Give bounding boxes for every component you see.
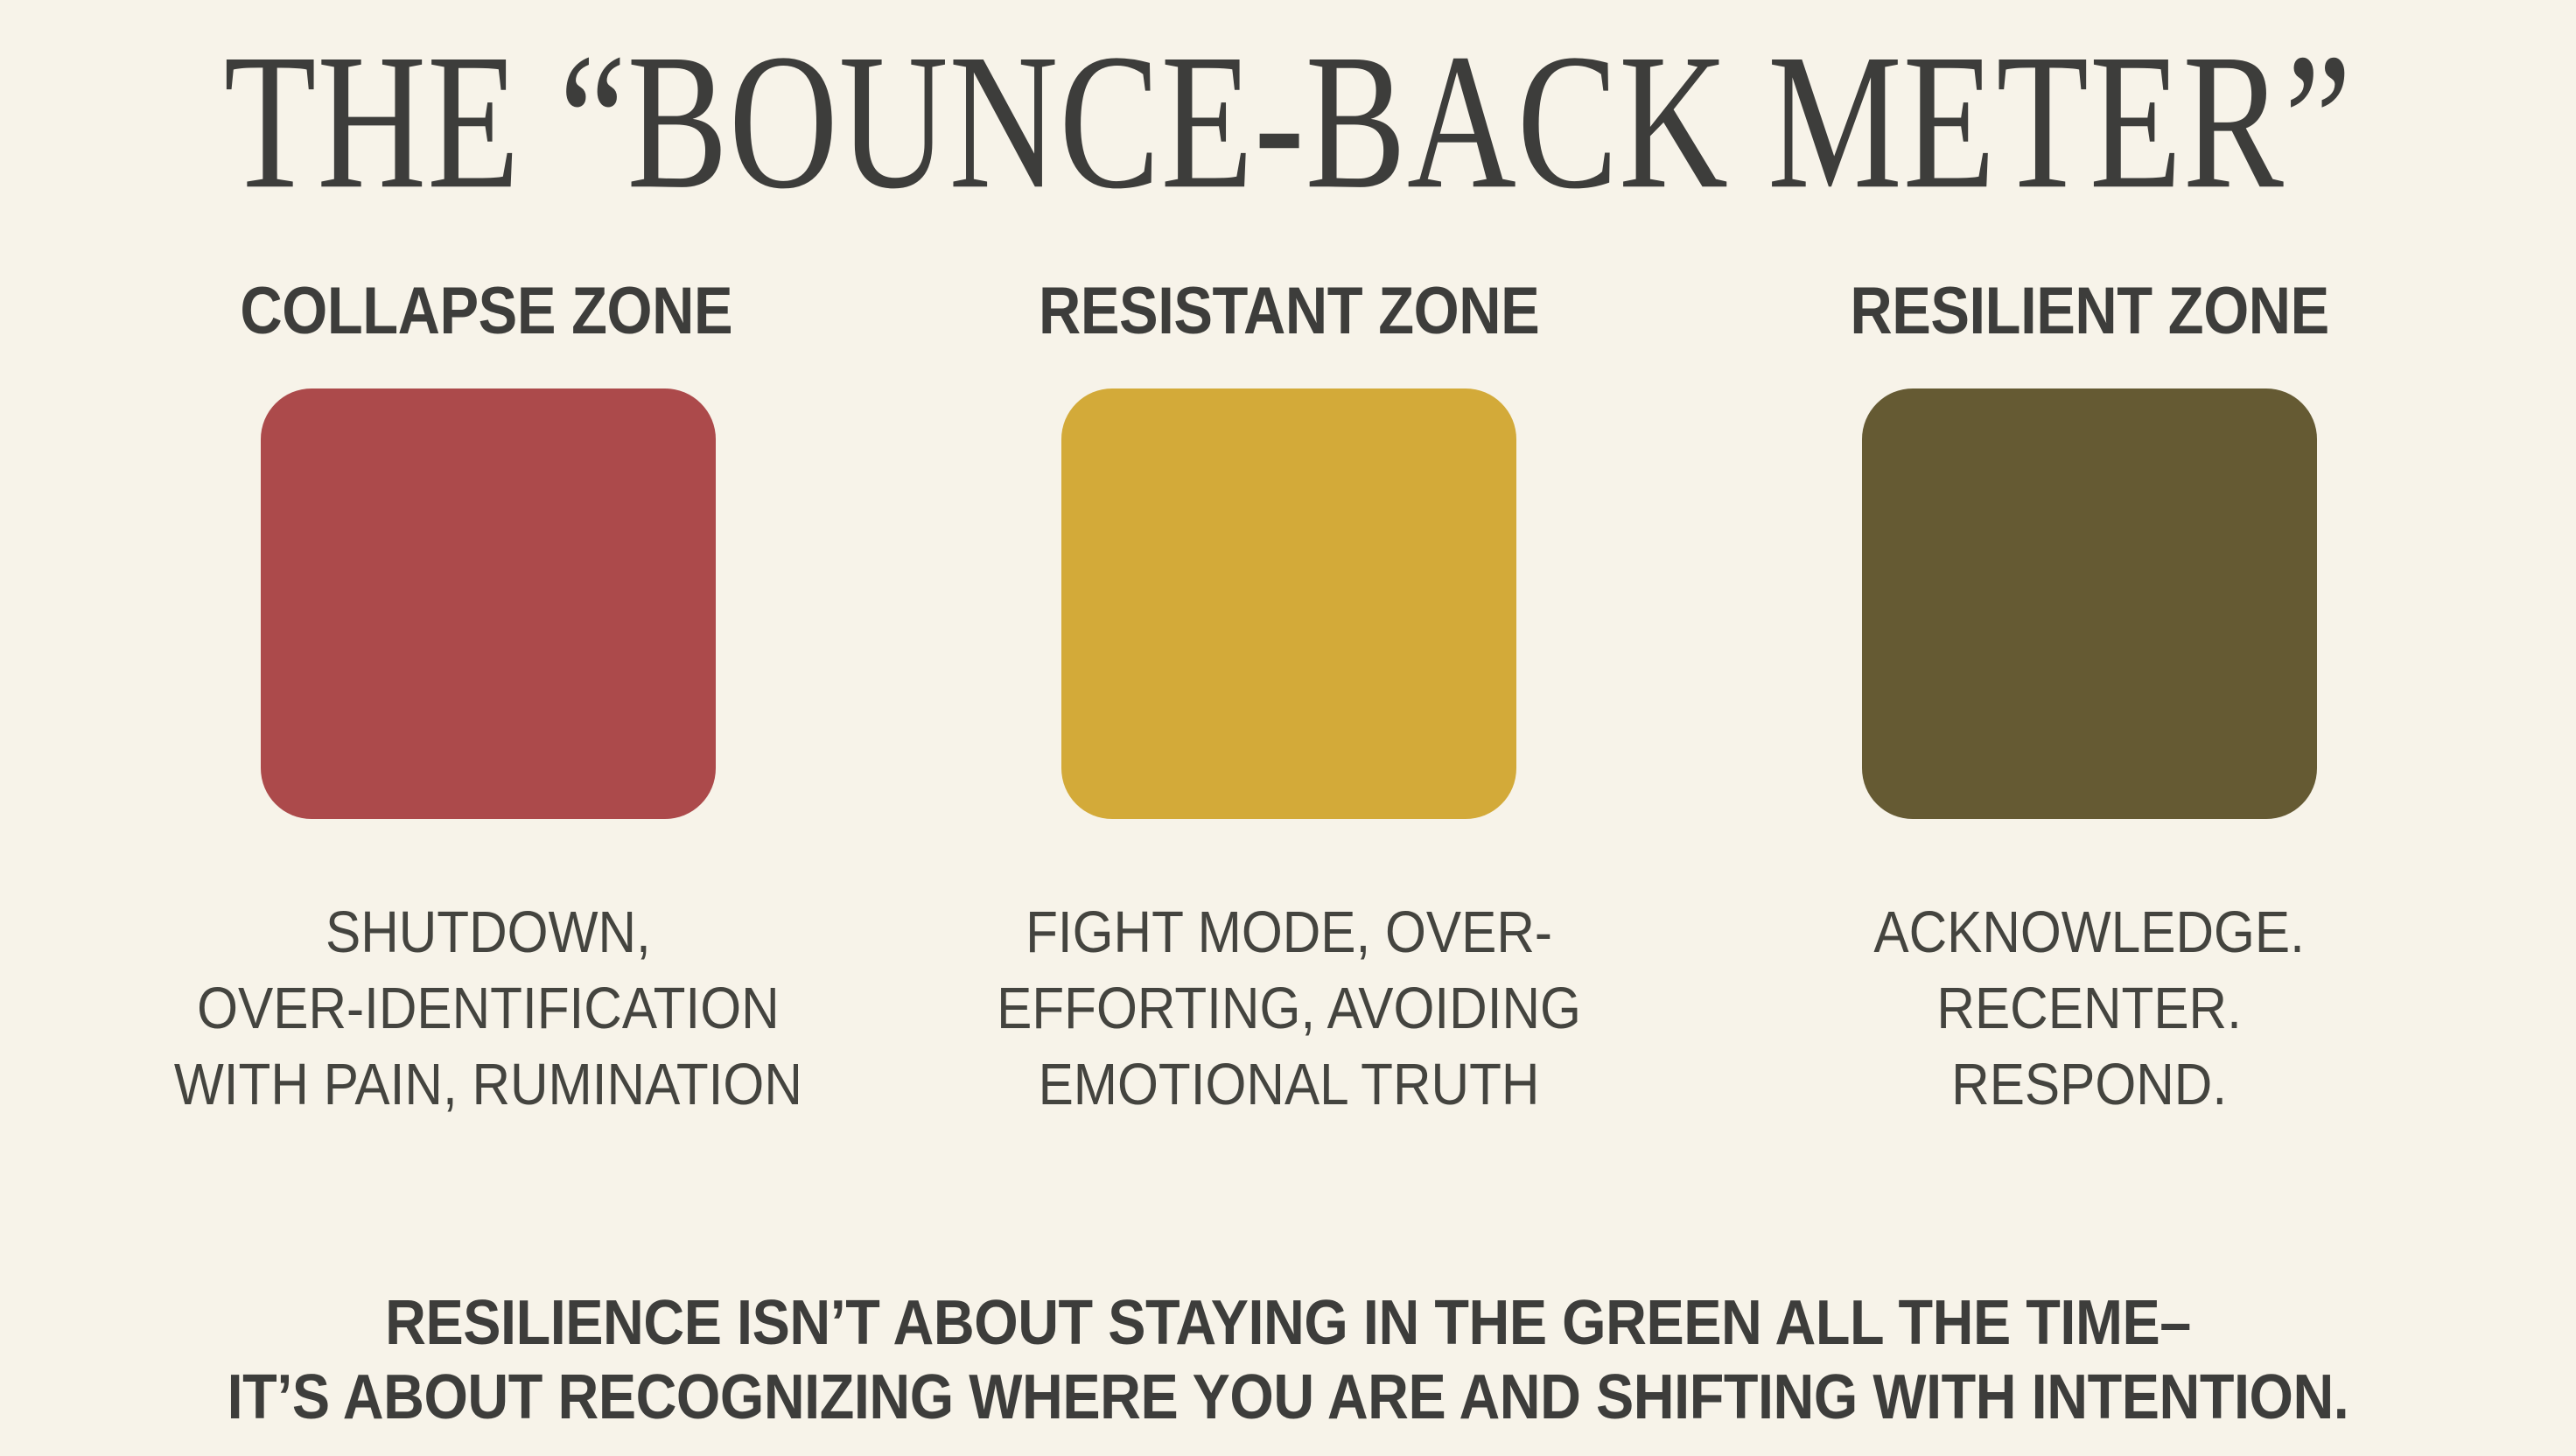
zone-column-resilient: RESILIENT ZONE ACKNOWLEDGE. RECENTER. RE… [1704, 278, 2474, 1123]
zone-column-resistant: RESISTANT ZONE FIGHT MODE, OVER- EFFORTI… [904, 278, 1674, 1123]
footer-line-1: RESILIENCE ISN’T ABOUT STAYING IN THE GR… [129, 1286, 2447, 1361]
title-container: THE “BOUNCE-BACK METER” [0, 24, 2576, 189]
zone-label-resistant: RESISTANT ZONE [1039, 278, 1539, 345]
page-title: THE “BOUNCE-BACK METER” [224, 24, 2353, 219]
zone-description-resistant: FIGHT MODE, OVER- EFFORTING, AVOIDING EM… [997, 894, 1581, 1123]
zone-swatch-resistant [1061, 388, 1516, 819]
zone-description-resilient: ACKNOWLEDGE. RECENTER. RESPOND. [1874, 894, 2306, 1123]
bounce-back-meter-infographic: THE “BOUNCE-BACK METER” COLLAPSE ZONE SH… [0, 0, 2576, 1456]
zone-label-resilient: RESILIENT ZONE [1850, 278, 2328, 345]
zones-container: COLLAPSE ZONE SHUTDOWN, OVER-IDENTIFICAT… [103, 278, 2474, 1123]
zone-swatch-collapse [261, 388, 716, 819]
zone-column-collapse: COLLAPSE ZONE SHUTDOWN, OVER-IDENTIFICAT… [103, 278, 873, 1123]
footer-line-2: IT’S ABOUT RECOGNIZING WHERE YOU ARE AND… [129, 1361, 2447, 1435]
footer-container: RESILIENCE ISN’T ABOUT STAYING IN THE GR… [0, 1286, 2576, 1435]
zone-label-collapse: COLLAPSE ZONE [241, 278, 733, 345]
zone-description-collapse: SHUTDOWN, OVER-IDENTIFICATION WITH PAIN,… [174, 894, 802, 1123]
zone-swatch-resilient [1862, 388, 2317, 819]
